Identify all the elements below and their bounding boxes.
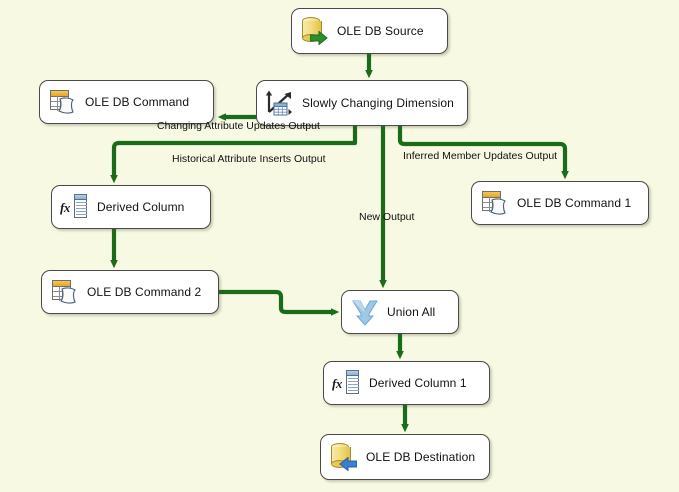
node-label: OLE DB Command — [85, 96, 189, 108]
node-ole-db-destination[interactable]: OLE DB Destination — [320, 434, 490, 480]
connector-label-inferred-member: Inferred Member Updates Output — [403, 151, 557, 162]
node-label: OLE DB Command 1 — [517, 197, 631, 209]
node-derived-column[interactable]: fx Derived Column — [51, 185, 211, 229]
node-label: OLE DB Command 2 — [87, 286, 201, 298]
connector-label-historical-attribute: Historical Attribute Inserts Output — [172, 154, 325, 165]
connector-label-new-output: New Output — [359, 212, 414, 223]
node-label: Derived Column 1 — [369, 377, 467, 389]
table-scroll-icon — [480, 188, 510, 218]
database-cylinder-out-icon — [300, 16, 330, 46]
node-ole-db-command-1[interactable]: OLE DB Command 1 — [471, 181, 649, 225]
node-union-all[interactable]: Union All — [341, 290, 459, 334]
fx-column-icon: fx — [332, 368, 362, 398]
connector-layer — [0, 0, 679, 492]
union-all-icon — [350, 297, 380, 327]
node-ole-db-command-2[interactable]: OLE DB Command 2 — [41, 270, 219, 314]
slowly-changing-dimension-icon — [265, 88, 295, 118]
node-label: Union All — [387, 306, 435, 318]
node-label: Slowly Changing Dimension — [302, 97, 454, 109]
fx-column-icon: fx — [60, 192, 90, 222]
data-flow-canvas: OLE DB Source Slowly Changing Dimension — [0, 0, 679, 492]
wire-command2-to-union — [219, 292, 335, 312]
connector-label-changing-attribute: Changing Attribute Updates Output — [157, 121, 320, 132]
database-cylinder-in-icon — [329, 442, 359, 472]
table-scroll-icon — [48, 87, 78, 117]
node-ole-db-command[interactable]: OLE DB Command — [39, 80, 214, 124]
node-derived-column-1[interactable]: fx Derived Column 1 — [323, 361, 490, 405]
table-scroll-icon — [50, 277, 80, 307]
node-label: OLE DB Source — [337, 25, 424, 37]
node-ole-db-source[interactable]: OLE DB Source — [291, 8, 448, 54]
node-label: Derived Column — [97, 201, 184, 213]
node-label: OLE DB Destination — [366, 451, 475, 463]
